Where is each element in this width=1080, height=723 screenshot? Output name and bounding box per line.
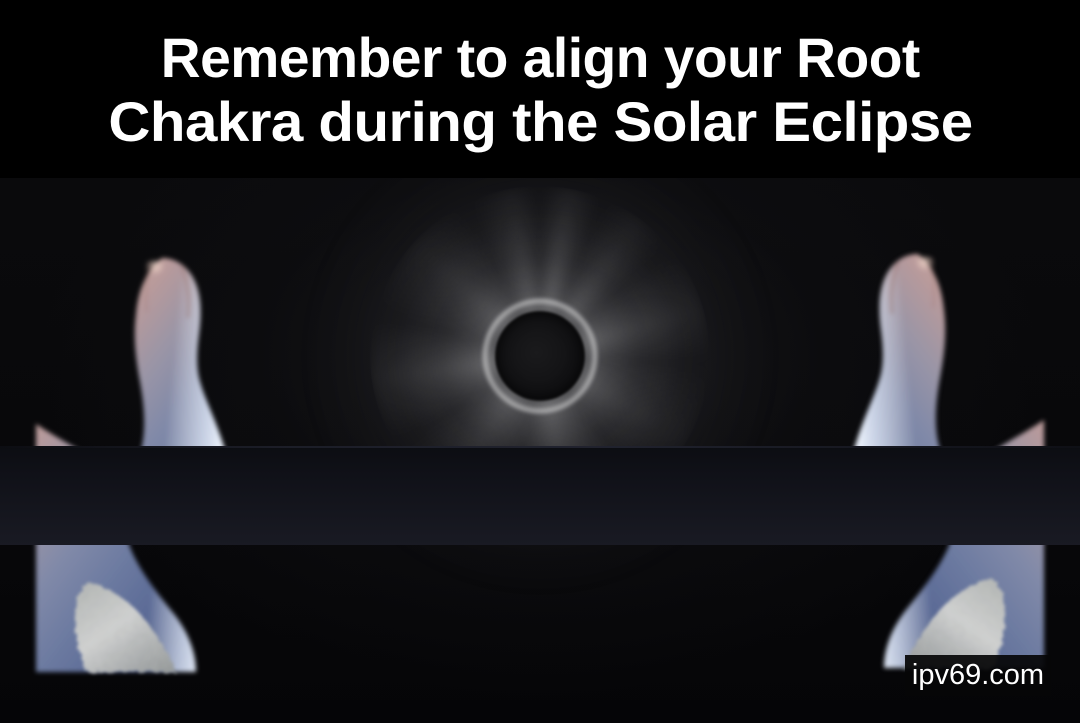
caption-band: Remember to align your Root Chakra durin…	[0, 0, 1080, 178]
bed-horizon-line	[0, 446, 1080, 448]
caption-line-2: Chakra during the Solar Eclipse	[108, 90, 972, 154]
watermark-badge: ipv69.com	[905, 655, 1051, 696]
bed-surface	[0, 446, 1080, 545]
caption-line-1: Remember to align your Root	[160, 26, 919, 90]
meme-image: Remember to align your Root Chakra durin…	[0, 0, 1080, 723]
watermark-label: ipv69.com	[912, 661, 1044, 690]
moon-disk-icon	[495, 311, 585, 401]
